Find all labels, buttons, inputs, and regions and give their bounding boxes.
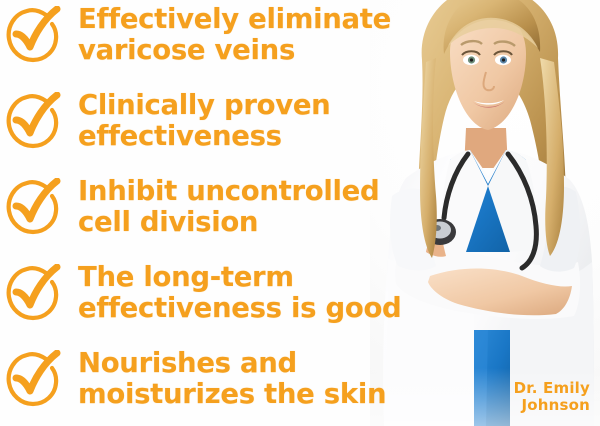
benefit-list: Effectively eliminate varicose veins Cli… <box>0 0 470 426</box>
benefit-text: The long-term effectiveness is good <box>78 262 401 324</box>
check-circle-icon <box>4 178 62 236</box>
check-circle-icon <box>4 6 62 64</box>
check-circle-icon <box>4 350 62 408</box>
doctor-name: Dr. Emily Johnson <box>514 380 590 414</box>
check-circle-icon <box>4 264 62 322</box>
benefit-item-4[interactable]: The long-term effectiveness is good <box>4 262 401 324</box>
benefit-text: Clinically proven effectiveness <box>78 90 330 152</box>
benefit-item-3[interactable]: Inhibit uncontrolled cell division <box>4 176 379 238</box>
benefit-item-2[interactable]: Clinically proven effectiveness <box>4 90 330 152</box>
promo-banner: Dr. Emily Johnson Effectively eliminate … <box>0 0 600 426</box>
benefit-text: Nourishes and moisturizes the skin <box>78 348 386 410</box>
benefit-item-1[interactable]: Effectively eliminate varicose veins <box>4 4 391 66</box>
benefit-item-5[interactable]: Nourishes and moisturizes the skin <box>4 348 386 410</box>
benefit-text: Effectively eliminate varicose veins <box>78 4 391 66</box>
benefit-text: Inhibit uncontrolled cell division <box>78 176 379 238</box>
check-circle-icon <box>4 92 62 150</box>
